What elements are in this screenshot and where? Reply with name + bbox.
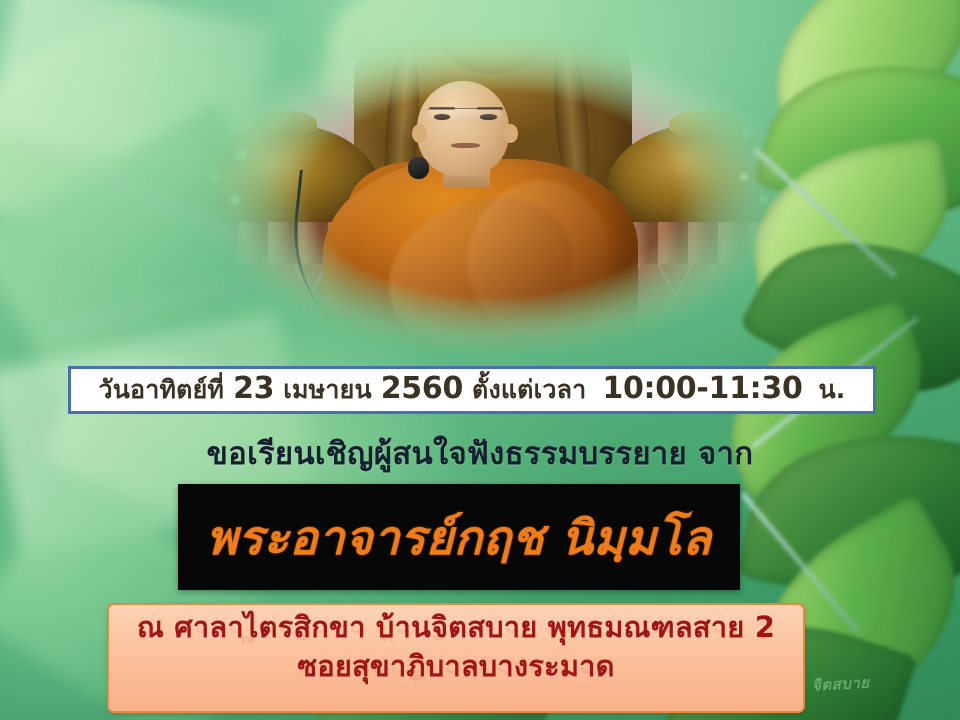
- flower-decoration-right: [720, 81, 796, 222]
- venue-banner: ณ ศาลาไตรสิกขา บ้านจิตสบาย พุทธมณฑลสาย 2…: [107, 603, 805, 713]
- date-time-range: 10:00-11:30: [602, 371, 802, 406]
- monk-ear: [503, 124, 518, 143]
- venue-line-1: ณ ศาลาไตรสิกขา บ้านจิตสบาย พุทธมณฑลสาย 2: [137, 611, 775, 643]
- flower-decoration-left: [191, 81, 267, 222]
- date-day-label: วันอาทิตย์ที่: [98, 370, 224, 410]
- event-date-line: วันอาทิตย์ที่ 23 เมษายน 2560 ตั้งแต่เวลา…: [98, 370, 845, 410]
- date-time-unit: น.: [819, 370, 846, 410]
- date-year: 2560: [381, 371, 463, 406]
- date-month: เมษายน: [283, 370, 371, 410]
- speaker-photo: [178, 18, 808, 370]
- date-day-number: 23: [233, 371, 274, 406]
- monk-mouth: [451, 143, 480, 149]
- microphone-icon: [408, 157, 429, 179]
- date-time-label: ตั้งแต่เวลา: [472, 370, 586, 410]
- event-date-box: วันอาทิตย์ที่ 23 เมษายน 2560 ตั้งแต่เวลา…: [68, 366, 876, 414]
- event-poster: วันอาทิตย์ที่ 23 เมษายน 2560 ตั้งแต่เวลา…: [0, 0, 960, 720]
- eyeglasses: [427, 108, 503, 122]
- monk-head: [417, 81, 508, 176]
- speaker-name: พระอาจารย์กฤช นิมฺมโล: [206, 500, 711, 575]
- invitation-text: ขอเรียนเชิญผู้สนใจฟังธรรมบรรยาย จาก: [0, 428, 960, 478]
- venue-line-2: ซอยสุขาภิบาลบางระมาด: [297, 650, 614, 682]
- speaker-name-banner: พระอาจารย์กฤช นิมฺมโล: [178, 484, 740, 590]
